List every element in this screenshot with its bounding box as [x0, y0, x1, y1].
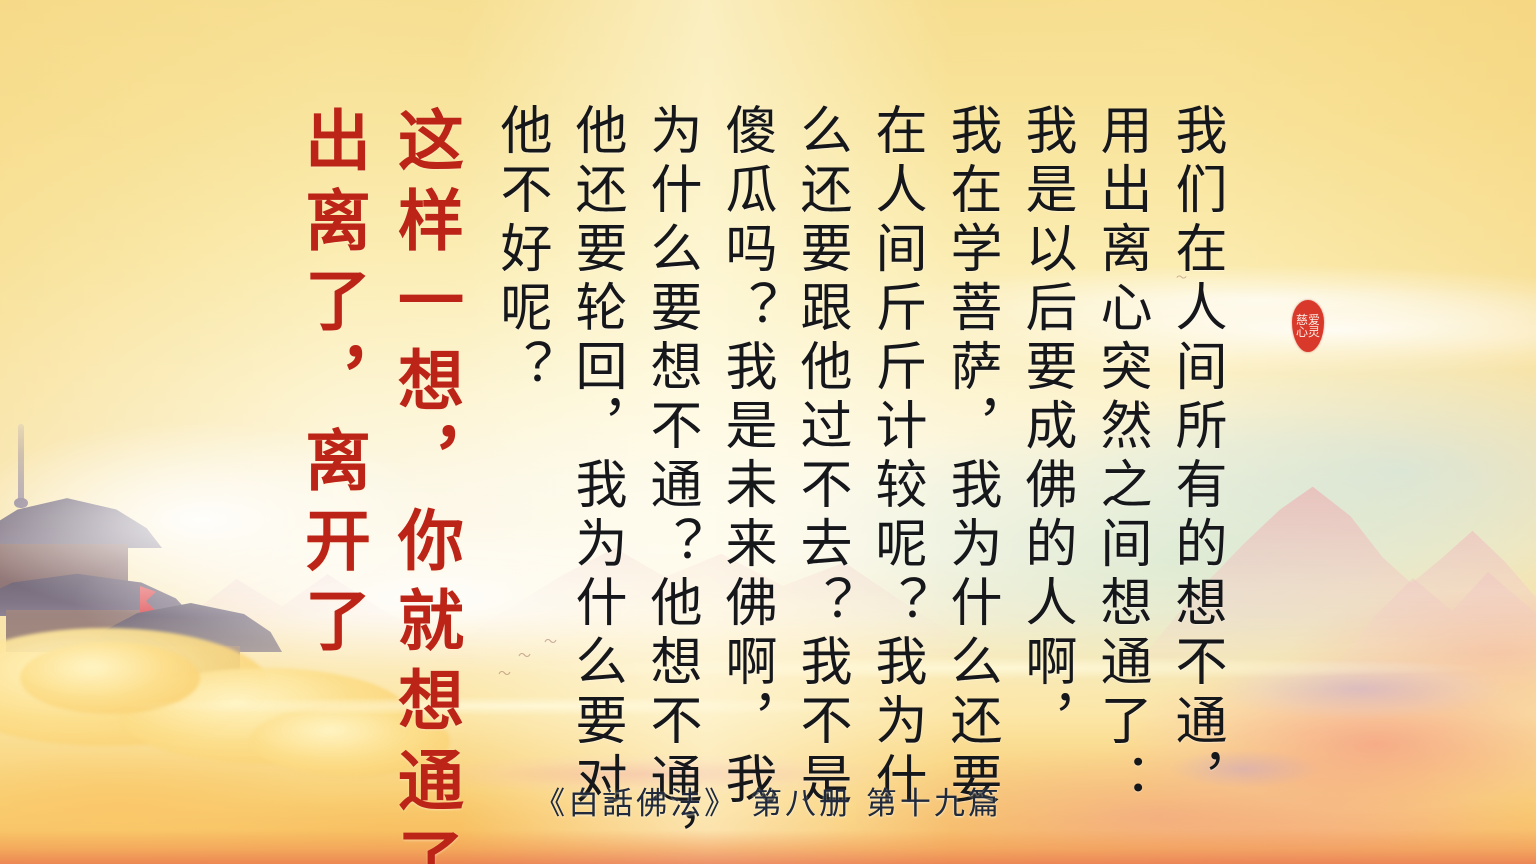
text-column-black-10: 他不好呢？ [495, 103, 547, 398]
text-column-red-1: 这样一想，你就想通了 [393, 106, 459, 864]
seal-characters: 慈 爱 心 灵 [1292, 300, 1324, 352]
text-column-black-6: 么还要跟他过不去？我不是 [795, 103, 847, 811]
vertical-text-block: 我们在人间所有的想不通， 用出离心突然之间想通了： 我是以后要成佛的人啊， 我在… [0, 0, 1536, 864]
text-column-black-9: 他还要轮回，我为什么要对 [570, 103, 622, 811]
red-seal-stamp: 慈 爱 心 灵 [1292, 300, 1324, 352]
text-column-black-1: 我们在人间所有的想不通， [1170, 103, 1222, 811]
seal-char-3: 心 [1296, 326, 1308, 338]
text-column-red-2: 出离了，离开了 [300, 106, 366, 666]
text-column-black-7: 傻瓜吗？我是未来佛啊，我 [720, 103, 772, 811]
quote-card-canvas: 〜 〜 〜 〜 我们在人间所有的想不通， 用出离心突然之间想通了： 我是以后要成… [0, 0, 1536, 864]
seal-char-4: 灵 [1308, 326, 1320, 338]
source-caption: 《白話佛法》 第八册 第十九篇 [0, 778, 1536, 823]
text-column-black-2: 用出离心突然之间想通了： [1095, 103, 1147, 811]
text-column-black-5: 在人间斤斤计较呢？我为什 [870, 103, 922, 811]
text-column-black-8: 为什么要想不通？他想不通， [645, 103, 697, 864]
text-column-black-3: 我是以后要成佛的人啊， [1020, 103, 1072, 752]
text-column-black-4: 我在学菩萨，我为什么还要 [945, 103, 997, 811]
